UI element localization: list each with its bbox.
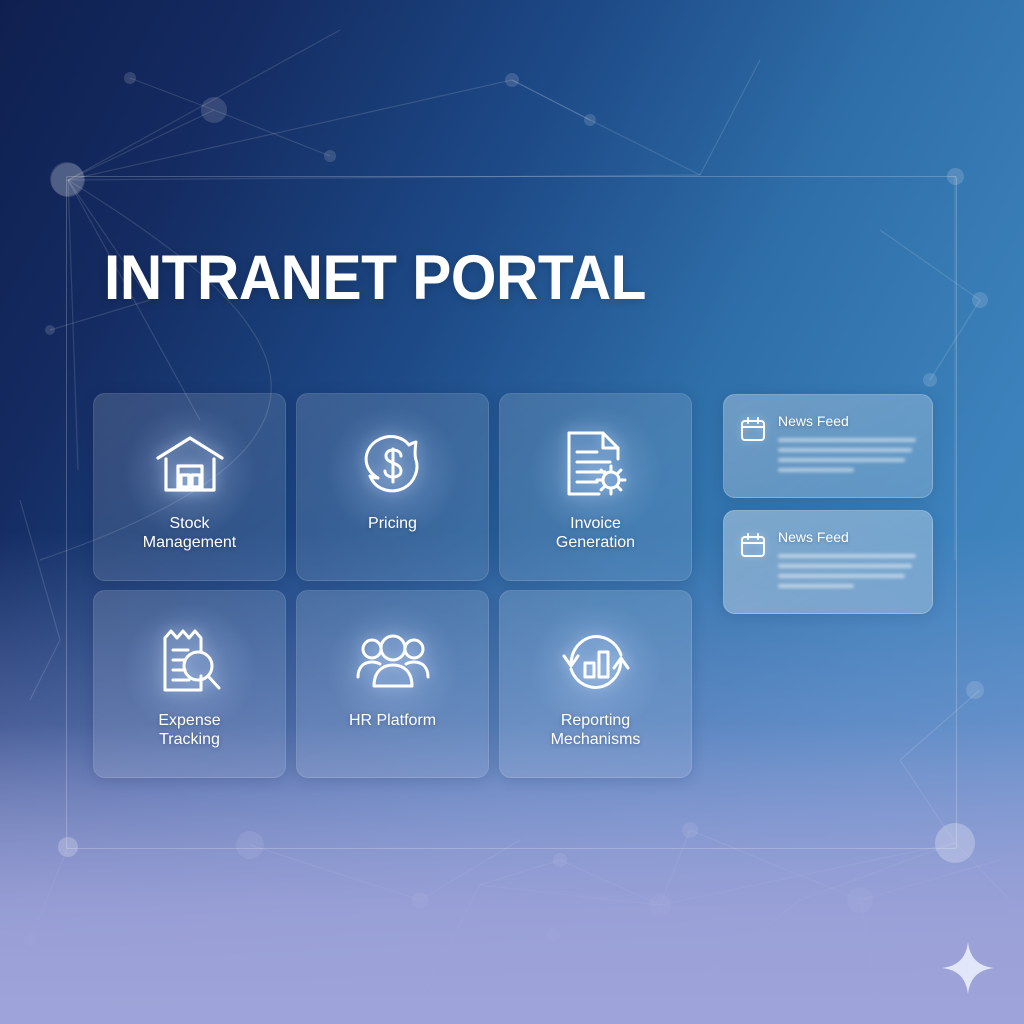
tile-expense-tracking[interactable]: Expense Tracking	[93, 590, 286, 778]
news-feed-body: News Feed	[778, 413, 916, 472]
receipt-search-icon	[155, 625, 225, 699]
news-feed-card-1[interactable]: News Feed	[723, 394, 933, 498]
news-feed-card-2[interactable]: News Feed	[723, 510, 933, 614]
refresh-chart-icon	[559, 625, 633, 699]
tile-label: Reporting Mechanisms	[543, 711, 649, 749]
frame-node-top-left	[50, 162, 84, 196]
price-tag-dollar-icon	[358, 428, 428, 502]
sparkle-icon	[940, 940, 996, 996]
tile-label: Expense Tracking	[150, 711, 228, 749]
calendar-icon	[740, 529, 766, 563]
feature-tile-grid: Stock Management Pricing	[93, 393, 701, 787]
tile-pricing[interactable]: Pricing	[296, 393, 489, 581]
tile-hr-platform[interactable]: HR Platform	[296, 590, 489, 778]
warehouse-icon	[153, 428, 227, 502]
tile-label: Stock Management	[135, 514, 244, 552]
document-gear-icon	[561, 428, 631, 502]
tile-stock-management[interactable]: Stock Management	[93, 393, 286, 581]
frame-node-top-right	[947, 168, 964, 185]
tile-label: Invoice Generation	[548, 514, 643, 552]
news-feed-placeholder-text	[778, 438, 916, 472]
frame-node-bottom-right	[935, 823, 975, 863]
people-group-icon	[355, 625, 431, 699]
news-feed-title: News Feed	[778, 413, 916, 429]
tile-row-2: Expense Tracking HR Platform	[93, 590, 701, 778]
tile-invoice-generation[interactable]: Invoice Generation	[499, 393, 692, 581]
page-title: INTRANET PORTAL	[104, 247, 646, 310]
tile-reporting-mechanisms[interactable]: Reporting Mechanisms	[499, 590, 692, 778]
news-feed-body: News Feed	[778, 529, 916, 588]
news-feed-placeholder-text	[778, 554, 916, 588]
news-feed-title: News Feed	[778, 529, 916, 545]
news-feed-panel-list: News Feed News Feed	[723, 394, 933, 614]
tile-row-1: Stock Management Pricing	[93, 393, 701, 581]
calendar-icon	[740, 413, 766, 447]
poster-canvas: INTRANET PORTAL Stock Management	[0, 0, 1024, 1024]
tile-label: Pricing	[360, 514, 425, 533]
tile-label: HR Platform	[341, 711, 444, 730]
frame-node-bottom-left	[58, 837, 78, 857]
